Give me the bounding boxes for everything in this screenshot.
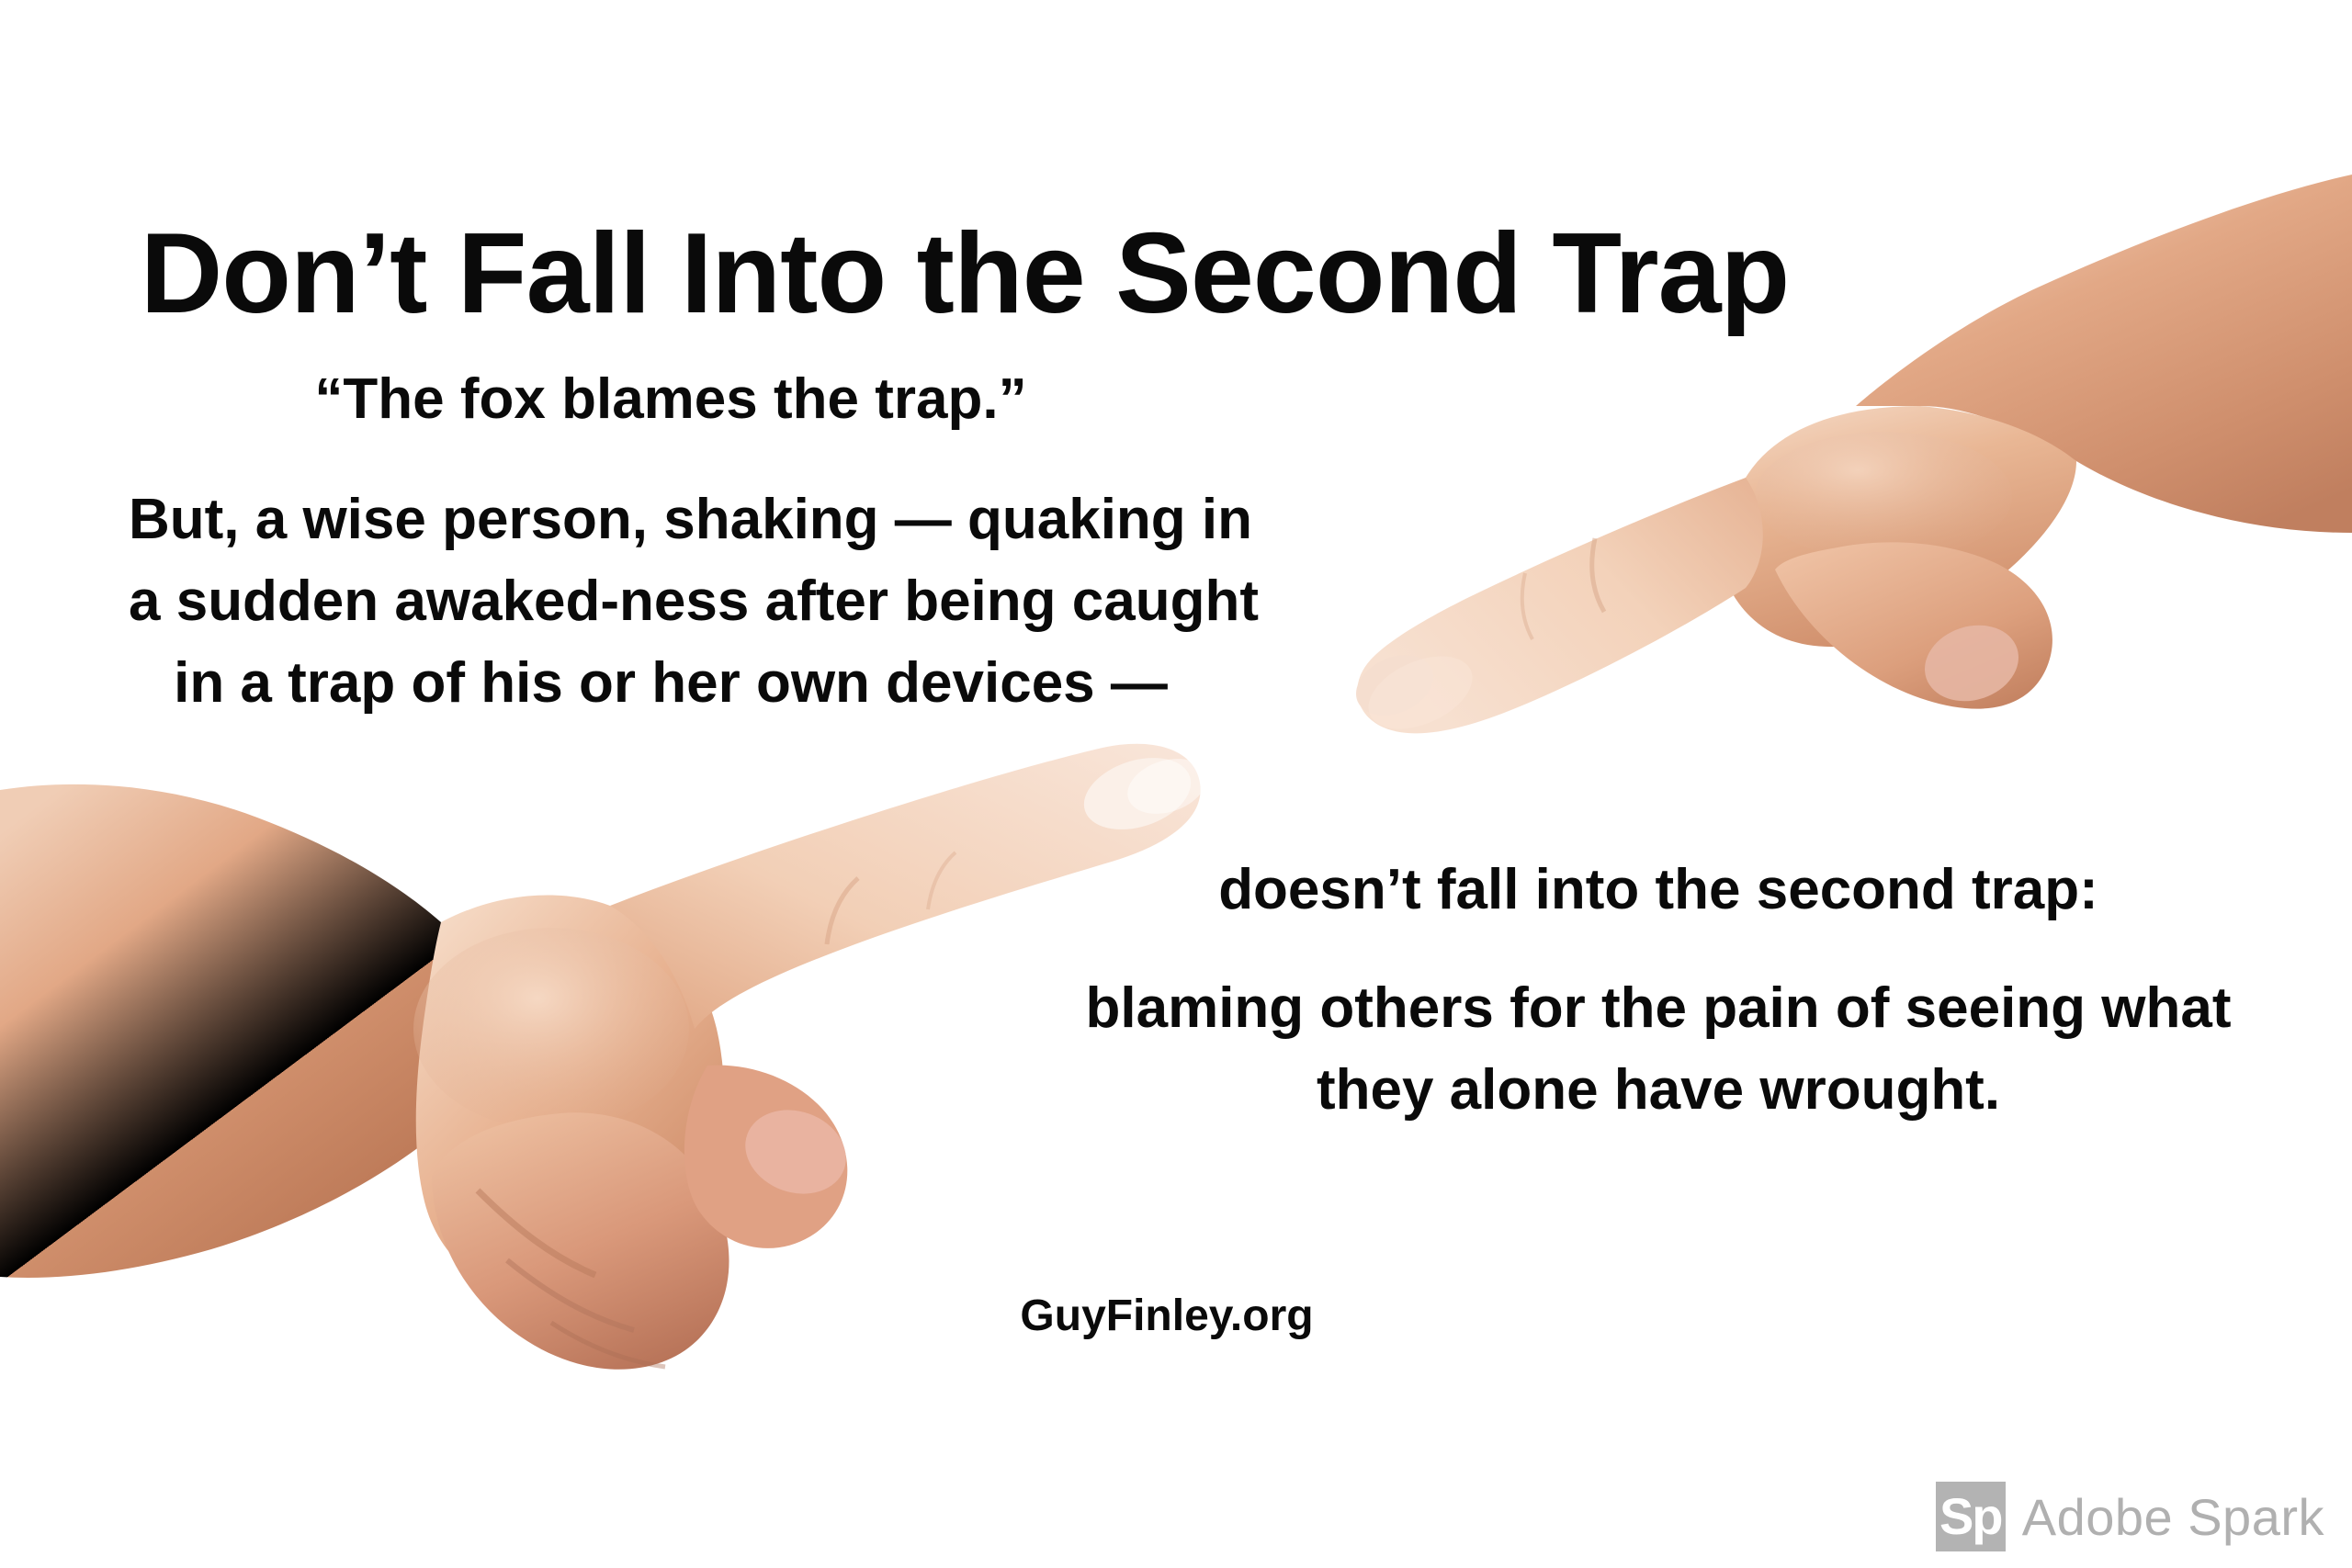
left-body-line-1: But, a wise person, shaking — quaking in bbox=[129, 479, 1213, 561]
poster-canvas: Don’t Fall Into the Second Trap “The fox… bbox=[0, 0, 2352, 1568]
fox-quote: “The fox blames the trap.” bbox=[129, 366, 1213, 434]
adobe-spark-logo-icon: Sp bbox=[1936, 1482, 2006, 1551]
adobe-spark-watermark: Sp Adobe Spark bbox=[1936, 1482, 2324, 1551]
right-text-block: doesn’t fall into the second trap: blami… bbox=[1075, 856, 2242, 1132]
adobe-spark-label: Adobe Spark bbox=[2022, 1487, 2324, 1547]
page-title: Don’t Fall Into the Second Trap bbox=[0, 216, 1929, 332]
left-body-line-2: a sudden awaked-ness after being caught bbox=[129, 561, 1213, 643]
right-body-line-1: blaming others for the pain of seeing wh… bbox=[1075, 968, 2242, 1050]
right-body-line-2: they alone have wrought. bbox=[1075, 1050, 2242, 1132]
left-body-line-3: in a trap of his or her own devices — bbox=[129, 643, 1213, 725]
right-lead-line: doesn’t fall into the second trap: bbox=[1075, 856, 2242, 924]
right-body-paragraph: blaming others for the pain of seeing wh… bbox=[1075, 968, 2242, 1131]
attribution-guyfinley: GuyFinley.org bbox=[799, 1291, 1534, 1341]
left-text-block: “The fox blames the trap.” But, a wise p… bbox=[129, 366, 1213, 724]
left-body-paragraph: But, a wise person, shaking — quaking in… bbox=[129, 479, 1213, 724]
